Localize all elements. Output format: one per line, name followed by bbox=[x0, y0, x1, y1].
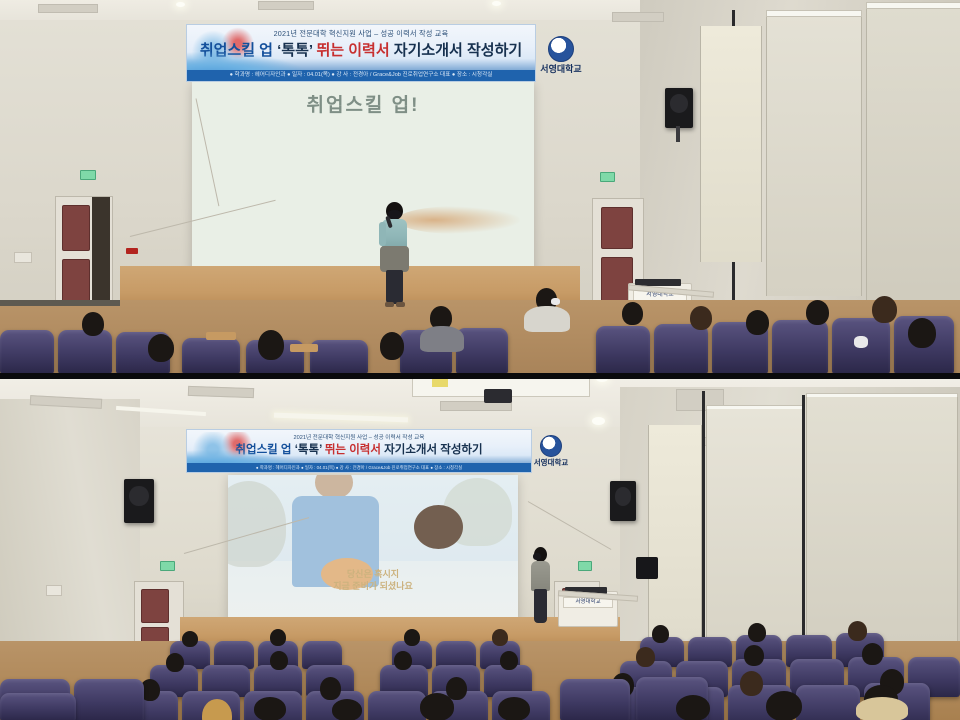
attendee-head bbox=[500, 651, 518, 670]
event-banner-top: 2021년 전문대학 혁신지원 사업 – 성공 이력서 작성 교육 취업스킬 업… bbox=[186, 24, 536, 82]
exit-sign-icon bbox=[600, 172, 615, 182]
door-panel bbox=[601, 207, 633, 249]
ceiling-vent-icon bbox=[258, 1, 314, 10]
attendee-head bbox=[806, 300, 829, 325]
wall-monitor-icon bbox=[636, 557, 658, 579]
attendee-head bbox=[320, 677, 341, 700]
attendee-mask-icon bbox=[551, 298, 560, 305]
blind-headrail bbox=[766, 10, 862, 17]
window-blind[interactable] bbox=[700, 26, 762, 262]
slide-caption-line2: 지금 준비가 되셨나요 bbox=[228, 579, 518, 592]
presenter-shoe bbox=[396, 302, 405, 307]
window-blind[interactable] bbox=[866, 6, 960, 312]
seat bbox=[368, 691, 426, 720]
attendee-head bbox=[908, 318, 936, 348]
wall-speaker-icon bbox=[124, 479, 154, 523]
attendee-head bbox=[676, 695, 710, 720]
blind-headrail bbox=[866, 2, 960, 9]
attendee-mask-icon bbox=[854, 336, 868, 348]
photo-top: 취업스킬 업! 2021년 전문대학 혁신지원 사업 – 성공 이력서 작성 교… bbox=[0, 0, 960, 373]
event-banner-bottom: 2021년 전문대학 혁신지원 사업 – 성공 이력서 작성 교육 취업스킬 업… bbox=[186, 429, 532, 473]
banner-subtitle-bottom: 2021년 전문대학 혁신지원 사업 – 성공 이력서 작성 교육 bbox=[187, 433, 531, 441]
attendee-head bbox=[420, 693, 454, 720]
attendee-head bbox=[636, 647, 655, 667]
attendee-head bbox=[690, 306, 712, 330]
attendee-head bbox=[254, 697, 286, 720]
seat bbox=[772, 320, 828, 373]
attendee-head bbox=[270, 651, 288, 670]
attendee-head bbox=[740, 671, 763, 696]
seat bbox=[596, 326, 650, 373]
seat bbox=[0, 693, 76, 720]
window-blind[interactable] bbox=[706, 409, 804, 645]
attendee-head bbox=[332, 699, 362, 720]
baseboard bbox=[0, 300, 120, 306]
attendee-head bbox=[380, 332, 404, 360]
attendee-head bbox=[148, 334, 174, 362]
banner-title-part3: 뛰는 이력서 bbox=[325, 444, 381, 456]
attendee-head bbox=[258, 330, 284, 360]
window-blind[interactable] bbox=[806, 397, 958, 657]
presenter-vest bbox=[380, 246, 409, 272]
door-panel bbox=[62, 205, 90, 251]
presenter-shoe bbox=[385, 302, 394, 307]
speaker-cone bbox=[670, 94, 688, 112]
auditorium-top: 취업스킬 업! 2021년 전문대학 혁신지원 사업 – 성공 이력서 작성 교… bbox=[0, 0, 960, 373]
attendee-head bbox=[498, 697, 530, 720]
attendee-head bbox=[166, 653, 184, 672]
projection-screen-top: 취업스킬 업! bbox=[192, 82, 534, 282]
photo-composite: 취업스킬 업! 2021년 전문대학 혁신지원 사업 – 성공 이력서 작성 교… bbox=[0, 0, 960, 720]
projector-icon bbox=[484, 389, 512, 403]
photo-bottom: 당신은 혹시지 지금 준비가 되셨나요 2021년 전문대학 혁신지원 사업 –… bbox=[0, 379, 960, 720]
left-wall-bottom bbox=[0, 399, 140, 667]
slide-image-bottom: 당신은 혹시지 지금 준비가 되셨나요 bbox=[228, 475, 518, 623]
slide-person-head bbox=[414, 505, 463, 549]
seat bbox=[58, 330, 112, 373]
ceiling-vent-icon bbox=[612, 12, 664, 22]
attendee-head bbox=[848, 621, 867, 641]
presenter-mask-icon bbox=[533, 553, 541, 560]
attendee-shoulders bbox=[420, 326, 464, 352]
speaker-mount bbox=[676, 126, 680, 142]
projection-screen-bottom: 당신은 혹시지 지금 준비가 되셨나요 bbox=[228, 475, 518, 623]
banner-subtitle-top: 2021년 전문대학 혁신지원 사업 – 성공 이력서 작성 교육 bbox=[187, 29, 535, 39]
seat bbox=[456, 328, 508, 373]
banner-title-part4: 자기소개서 작성하기 bbox=[394, 42, 522, 59]
speaker-cone bbox=[615, 487, 632, 505]
seat bbox=[654, 324, 708, 373]
wall-panel-separator bbox=[802, 395, 805, 653]
banner-title-part4: 자기소개서 작성하기 bbox=[384, 444, 482, 456]
university-name-top: 서영대학교 bbox=[532, 62, 590, 75]
seat-writing-tablet bbox=[206, 332, 236, 340]
speaker-cone bbox=[129, 486, 148, 506]
attendee-head bbox=[394, 651, 412, 670]
university-seal-icon bbox=[548, 36, 574, 62]
wall-panel-separator bbox=[702, 391, 705, 641]
window-blind[interactable] bbox=[766, 14, 862, 296]
presenter-legs bbox=[386, 270, 403, 304]
banner-info-strip-bottom: ● 학과명 : 헤어디자인과 ● 일자 : 04.01(목) ● 강 사 : 전… bbox=[187, 463, 531, 472]
attendee-head bbox=[652, 625, 669, 643]
ceiling-light-icon bbox=[492, 1, 501, 6]
ceiling-light-icon bbox=[176, 2, 185, 7]
wall-outlet-icon bbox=[46, 585, 62, 596]
wall-speaker-icon bbox=[665, 88, 693, 128]
attendee-head bbox=[182, 631, 198, 647]
door-open-gap bbox=[92, 197, 110, 317]
window-blind[interactable] bbox=[648, 425, 702, 639]
banner-info-strip-top: ● 학과명 : 헤어디자인과 ● 일자 : 04.01(목) ● 강 사 : 전… bbox=[187, 70, 535, 81]
seat bbox=[0, 330, 54, 373]
seat bbox=[560, 679, 630, 720]
seat bbox=[182, 338, 240, 373]
attendee-shoulders bbox=[524, 306, 570, 332]
ceiling-vent-icon bbox=[38, 4, 98, 13]
university-seal-icon bbox=[540, 435, 562, 457]
presenter-torso bbox=[531, 561, 550, 591]
slide-graphic-smudge bbox=[397, 206, 520, 234]
attendee-head bbox=[622, 302, 643, 325]
exit-sign-icon bbox=[80, 170, 96, 180]
ceiling-light-icon bbox=[592, 417, 605, 425]
attendee-head bbox=[766, 691, 802, 720]
attendee-head bbox=[744, 645, 764, 666]
attendee-head bbox=[82, 312, 104, 336]
auditorium-bottom: 당신은 혹시지 지금 준비가 되셨나요 2021년 전문대학 혁신지원 사업 –… bbox=[0, 379, 960, 720]
attendee-head bbox=[492, 629, 508, 646]
seat bbox=[796, 685, 860, 720]
attendee-head bbox=[872, 296, 897, 323]
attendee-head bbox=[862, 643, 883, 665]
exit-sign-icon bbox=[160, 561, 175, 571]
attendee-head bbox=[270, 629, 286, 646]
fire-alarm-icon bbox=[126, 248, 138, 254]
banner-title-part3: 뛰는 이력서 bbox=[316, 42, 389, 59]
slide-title-top: 취업스킬 업! bbox=[192, 90, 534, 117]
seat bbox=[310, 340, 368, 373]
attendee-head bbox=[746, 310, 769, 335]
presenter-arm bbox=[379, 222, 386, 246]
ceiling-tag bbox=[432, 379, 448, 387]
seat bbox=[74, 679, 144, 720]
exit-sign-icon bbox=[578, 561, 592, 571]
wall-speaker-icon bbox=[610, 481, 636, 521]
attendee-head bbox=[404, 629, 420, 646]
wall-outlet-icon bbox=[14, 252, 32, 263]
attendee-head-with-cap bbox=[856, 697, 908, 720]
seat-writing-tablet bbox=[290, 344, 318, 352]
door-panel bbox=[141, 589, 169, 623]
presenter-legs bbox=[534, 589, 547, 623]
attendee-head bbox=[748, 623, 766, 642]
university-name-bottom: 서영대학교 bbox=[524, 457, 578, 468]
